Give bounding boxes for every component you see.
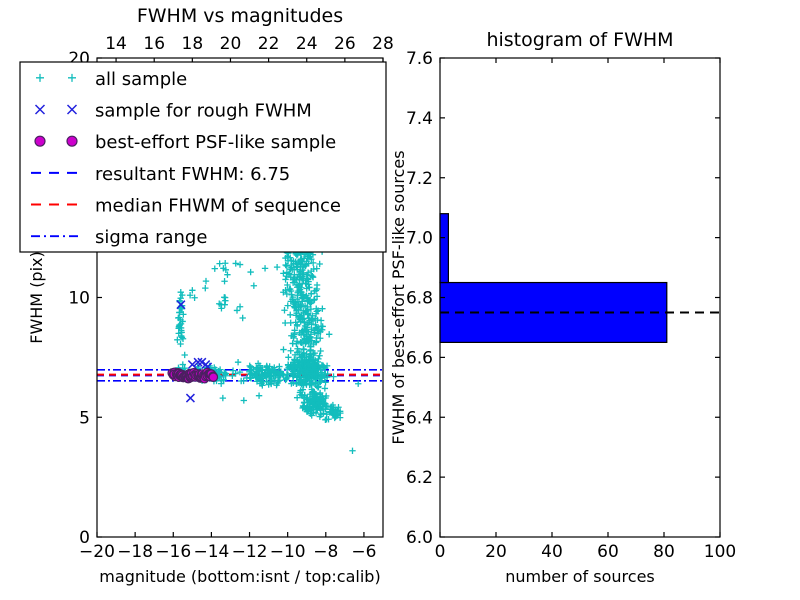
legend-label: best-effort PSF-like sample [95,132,336,153]
top-x-tick-label: 20 [220,34,242,54]
legend-label: all sample [95,69,187,90]
right-y-tick-label: 7.2 [406,169,433,189]
x-tick-label: −14 [193,542,229,562]
y-tick-label: 0 [79,528,90,548]
right-y-axis-label: FWHM of best-effort PSF-like sources [389,150,408,444]
legend-marker-circle [35,136,45,146]
right-x-tick-label: 80 [653,542,675,562]
y-tick-label: 5 [79,408,90,428]
right-y-tick-label: 7.0 [406,229,433,249]
legend-label: sample for rough FWHM [95,101,312,122]
right-x-tick-label: 0 [435,542,446,562]
top-x-tick-label: 22 [258,34,280,54]
top-x-tick-label: 24 [296,34,318,54]
x-tick-label: −18 [117,542,153,562]
left-chart-title: FWHM vs magnitudes [137,5,343,27]
right-y-tick-label: 6.6 [406,348,433,368]
y-tick-label: 10 [68,289,90,309]
legend-label: resultant FWHM: 6.75 [95,164,290,185]
right-x-tick-label: 40 [541,542,563,562]
right-y-tick-label: 6.0 [406,528,433,548]
left-y-axis-label: FWHM (pix) [27,251,46,344]
x-tick-label: −8 [313,542,338,562]
right-y-tick-label: 6.2 [406,468,433,488]
x-tick-label: −10 [270,542,306,562]
top-x-tick-label: 18 [182,34,204,54]
legend: all samplesample for rough FWHMbest-effo… [20,62,386,252]
right-y-tick-label: 7.6 [406,49,433,69]
top-x-tick-label: 26 [334,34,356,54]
matplotlib-figure: −20−18−16−14−12−10−8−6051015201416182022… [0,0,800,600]
right-y-tick-label: 7.4 [406,109,433,129]
legend-box [20,62,386,252]
scatter-marker-circle [209,373,217,381]
histogram-bar [440,214,448,283]
right-x-tick-label: 100 [704,542,736,562]
x-tick-label: −12 [232,542,268,562]
x-tick-label: −16 [155,542,191,562]
right-x-tick-label: 60 [597,542,619,562]
top-x-tick-label: 28 [372,34,394,54]
legend-label: median FHWM of sequence [95,196,341,217]
left-x-axis-label: magnitude (bottom:isnt / top:calib) [99,567,380,586]
right-x-axis-label: number of sources [505,567,655,586]
figure-canvas: −20−18−16−14−12−10−8−6051015201416182022… [0,0,800,600]
legend-marker-circle [67,136,77,146]
right-y-tick-label: 6.4 [406,408,433,428]
right-chart-title: histogram of FWHM [486,29,673,51]
x-tick-label: −6 [351,542,376,562]
top-x-tick-label: 16 [143,34,165,54]
right-x-tick-label: 20 [485,542,507,562]
right-y-tick-label: 6.8 [406,289,433,309]
legend-label: sigma range [95,227,207,248]
top-x-tick-label: 14 [105,34,127,54]
series-psf-like [168,368,217,383]
